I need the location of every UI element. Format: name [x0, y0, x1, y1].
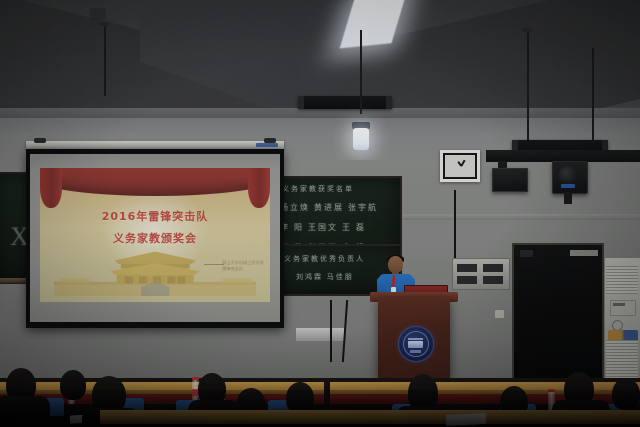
fixture-endcap — [386, 96, 392, 109]
screen-surface: 2016年雷锋突击队 义务家教颁奖会 — [30, 154, 280, 322]
ceiling-vent-icon — [90, 8, 106, 20]
blackboard-line: 杨立焕 黄进展 张宇航 — [280, 202, 378, 213]
projection-screen: 2016年雷锋突击队 义务家教颁奖会 — [26, 149, 284, 328]
light-mount-1 — [99, 22, 109, 26]
door-plate — [520, 250, 533, 257]
rack-slot — [457, 264, 477, 272]
blackboard-line: 义务家教获奖名单 — [282, 184, 354, 194]
bottle-cap — [192, 377, 199, 380]
fixture-endcap — [298, 96, 304, 109]
wall-cable — [454, 190, 456, 258]
wall-power-socket[interactable] — [495, 310, 504, 318]
screen-bracket — [34, 138, 46, 143]
speaker-cone-icon — [559, 166, 577, 184]
ac-display — [613, 303, 625, 306]
ac-vent-bottom — [606, 340, 638, 382]
seal-year-banner — [410, 350, 421, 353]
light-rod-4 — [592, 48, 594, 144]
light-mount-3 — [522, 28, 532, 32]
slide-title-line1: 2016年雷锋突击队 — [40, 208, 270, 224]
screen-bottom-weight — [296, 328, 344, 341]
slide-credit: 燕山大学机械工程学院 雷锋突击队 — [222, 260, 264, 272]
rack-slot — [483, 264, 503, 272]
seal-book-icon — [408, 341, 423, 348]
blackboard-line: 李 阳 王国文 王 磊 — [280, 222, 366, 233]
curtain-left — [40, 168, 62, 208]
ac-vent-top — [606, 266, 638, 294]
ceiling-light-fixture-1 — [298, 96, 392, 109]
light-rod-2 — [360, 30, 362, 114]
presentation-slide: 2016年雷锋突击队 义务家教颁奖会 — [40, 168, 270, 302]
rack-slot — [483, 276, 503, 284]
floor-cable-1 — [330, 300, 332, 362]
slide-credit-line2: 雷锋突击队 — [222, 266, 264, 272]
light-rod-1 — [104, 24, 106, 96]
university-seal-icon — [398, 326, 434, 362]
blackboard-line: 刘鸿霖 马佳朋 — [296, 272, 354, 282]
hanging-fluorescent-lamp-1 — [353, 128, 369, 150]
clock-bezel — [443, 153, 477, 179]
rear-door[interactable] — [512, 243, 604, 380]
slide-curtain-graphic — [40, 168, 270, 202]
wall-clock — [440, 150, 480, 182]
forbidden-city-silhouette — [54, 248, 256, 296]
speaker-mount-stem — [564, 192, 572, 204]
wall-speaker-left — [492, 168, 528, 192]
curtain-right — [248, 168, 270, 208]
door-sign — [570, 250, 598, 256]
screen-brand-label — [256, 143, 278, 147]
light-rod-3 — [527, 30, 529, 140]
clock-face — [445, 155, 475, 177]
blackboard-line: 义务家教优秀负责人 — [284, 254, 365, 264]
lecture-hall-photo: X 义务家教获奖名单 杨立焕 黄进展 张宇航 李 阳 王国文 王 磊 张 静 赵… — [0, 0, 640, 427]
speaker-brand-badge — [561, 184, 575, 188]
slide-title-line2: 义务家教颁奖会 — [40, 230, 270, 246]
rack-slot — [457, 276, 477, 284]
equipment-rack — [452, 258, 510, 290]
seal-detail — [408, 338, 423, 340]
clock-minute-hand — [460, 159, 465, 166]
curtain-swag — [40, 168, 270, 196]
foreground-shadow — [0, 390, 640, 427]
slide-credit-dash — [204, 264, 224, 265]
